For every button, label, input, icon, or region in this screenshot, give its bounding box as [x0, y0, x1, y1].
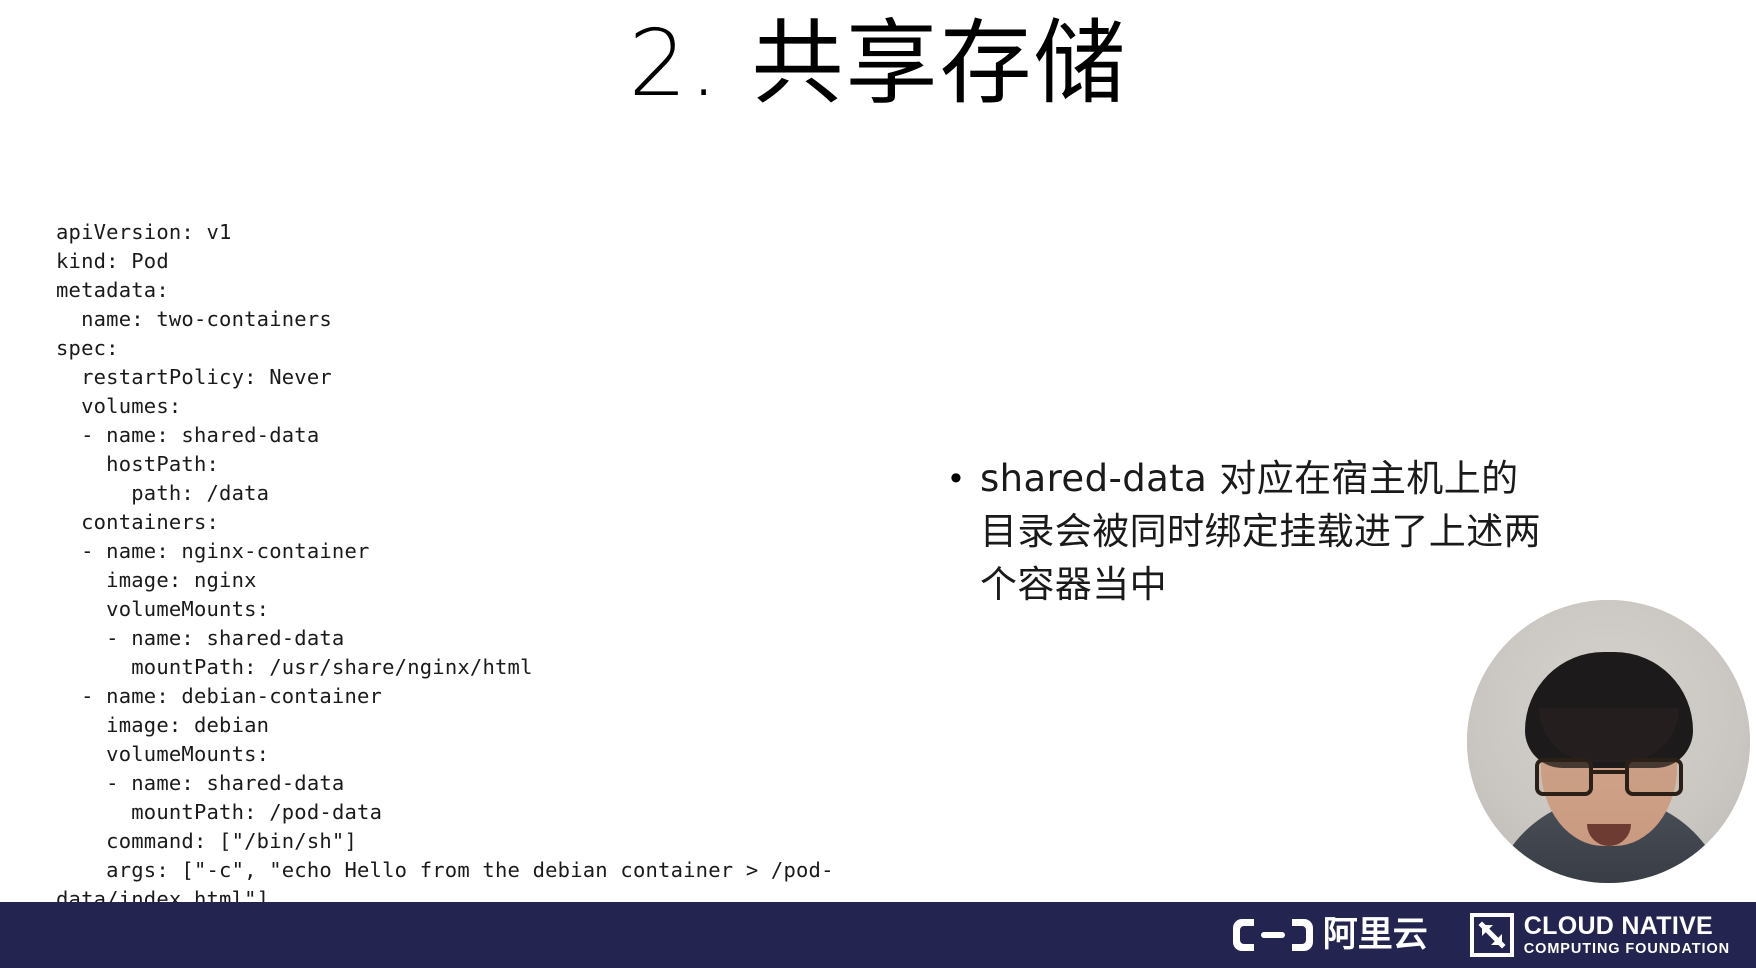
cncf-logo-text: CLOUD NATIVE COMPUTING FOUNDATION — [1524, 914, 1730, 957]
webcam-glasses — [1533, 758, 1685, 798]
list-item-label: shared-data 对应在宿主机上的目录会被同时绑定挂载进了上述两个容器当中 — [980, 452, 1544, 611]
webcam-glasses-bridge — [1593, 770, 1625, 774]
alibaba-cloud-bracket-icon — [1232, 916, 1314, 954]
cncf-logo: CLOUD NATIVE COMPUTING FOUNDATION — [1470, 913, 1730, 957]
cncf-logo-line1: CLOUD NATIVE — [1524, 914, 1730, 939]
presentation-slide: 2. 共享存储 apiVersion: v1 kind: Pod metadat… — [0, 0, 1756, 968]
footer-bar: 阿里云 CLOUD NATIVE COMPUTING FOUNDATION — [0, 902, 1756, 968]
cncf-logo-line2: COMPUTING FOUNDATION — [1524, 942, 1730, 957]
cncf-helm-icon — [1470, 913, 1514, 957]
alibaba-cloud-logo: 阿里云 — [1232, 916, 1428, 954]
alibaba-cloud-logo-text: 阿里云 — [1323, 918, 1428, 953]
page-title: 2. 共享存储 — [0, 12, 1756, 115]
yaml-code-block: apiVersion: v1 kind: Pod metadata: name:… — [56, 218, 936, 914]
bullet-point-icon: • — [944, 452, 980, 505]
webcam-lens-right — [1625, 758, 1683, 796]
webcam-lens-left — [1535, 758, 1593, 796]
list-item: • shared-data 对应在宿主机上的目录会被同时绑定挂载进了上述两个容器… — [944, 452, 1544, 611]
presenter-video-avatar — [1467, 600, 1750, 883]
bullet-list: • shared-data 对应在宿主机上的目录会被同时绑定挂载进了上述两个容器… — [944, 452, 1544, 611]
footer-logo-group: 阿里云 CLOUD NATIVE COMPUTING FOUNDATION — [1232, 913, 1756, 957]
